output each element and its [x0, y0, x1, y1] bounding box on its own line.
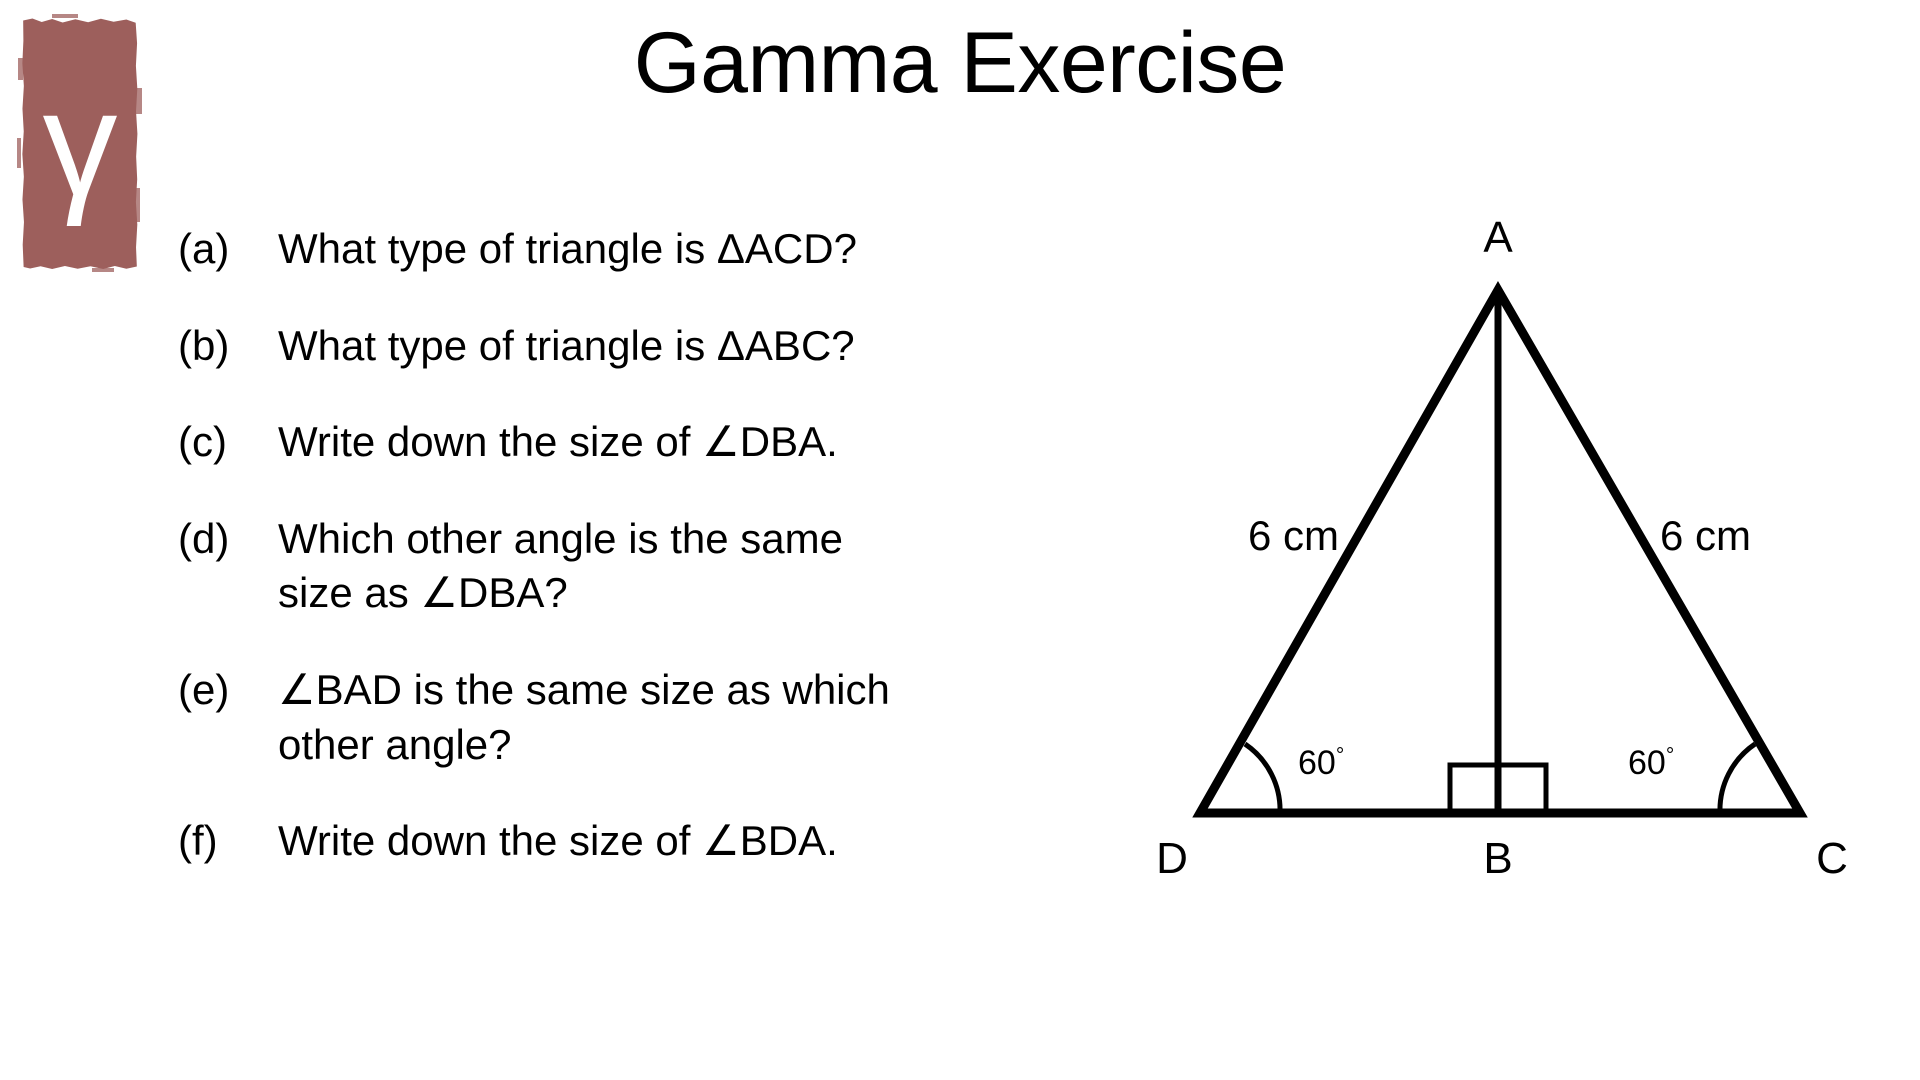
question-item-c: (c) Write down the size of ∠DBA.	[178, 415, 1048, 470]
degree-sign-icon: °	[1666, 744, 1674, 767]
question-item-a: (a) What type of triangle is ΔACD?	[178, 222, 1048, 277]
question-line: size as ∠DBA?	[278, 566, 843, 621]
question-item-d: (d) Which other angle is the same size a…	[178, 512, 1048, 621]
angle-label-c: 60°	[1628, 744, 1674, 782]
question-label-e: (e)	[178, 663, 278, 718]
question-item-b: (b) What type of triangle is ΔABC?	[178, 319, 1048, 374]
logo-speckle	[17, 138, 21, 168]
logo-speckle	[92, 268, 114, 272]
question-line: other angle?	[278, 718, 890, 773]
question-label-b: (b)	[178, 319, 278, 374]
question-text-a: What type of triangle is ΔACD?	[278, 222, 857, 277]
question-text-c: Write down the size of ∠DBA.	[278, 415, 838, 470]
side-label-right: 6 cm	[1660, 512, 1751, 559]
question-line: Write down the size of ∠BDA.	[278, 814, 838, 869]
angle-label-d: 60°	[1298, 744, 1344, 782]
question-item-f: (f) Write down the size of ∠BDA.	[178, 814, 1048, 869]
triangle-diagram: A B C D 6 cm 6 cm 60° 60°	[1120, 190, 1910, 910]
angle-arc-d	[1245, 744, 1280, 813]
angle-arc-c	[1720, 744, 1755, 813]
question-label-c: (c)	[178, 415, 278, 470]
question-line: What type of triangle is ΔABC?	[278, 319, 855, 374]
question-text-d: Which other angle is the same size as ∠D…	[278, 512, 843, 621]
question-text-e: ∠BAD is the same size as which other ang…	[278, 663, 890, 772]
side-label-left: 6 cm	[1248, 512, 1339, 559]
question-line: ∠BAD is the same size as which	[278, 663, 890, 718]
question-line: Which other angle is the same	[278, 512, 843, 567]
angle-value-c: 60	[1628, 744, 1666, 782]
question-list: (a) What type of triangle is ΔACD? (b) W…	[178, 222, 1048, 911]
question-text-f: Write down the size of ∠BDA.	[278, 814, 838, 869]
degree-sign-icon: °	[1336, 744, 1344, 767]
triangle-svg: A B C D 6 cm 6 cm 60° 60°	[1120, 190, 1910, 910]
question-item-e: (e) ∠BAD is the same size as which other…	[178, 663, 1048, 772]
vertex-label-b: B	[1483, 834, 1512, 883]
angle-value-d: 60	[1298, 744, 1336, 782]
vertex-label-c: C	[1816, 834, 1848, 883]
question-line: Write down the size of ∠DBA.	[278, 415, 838, 470]
vertex-label-d: D	[1156, 834, 1188, 883]
vertex-label-a: A	[1483, 213, 1513, 262]
question-label-f: (f)	[178, 814, 278, 869]
question-text-b: What type of triangle is ΔABC?	[278, 319, 855, 374]
question-label-d: (d)	[178, 512, 278, 567]
question-label-a: (a)	[178, 222, 278, 277]
page-title: Gamma Exercise	[0, 18, 1920, 108]
question-line: What type of triangle is ΔACD?	[278, 222, 857, 277]
